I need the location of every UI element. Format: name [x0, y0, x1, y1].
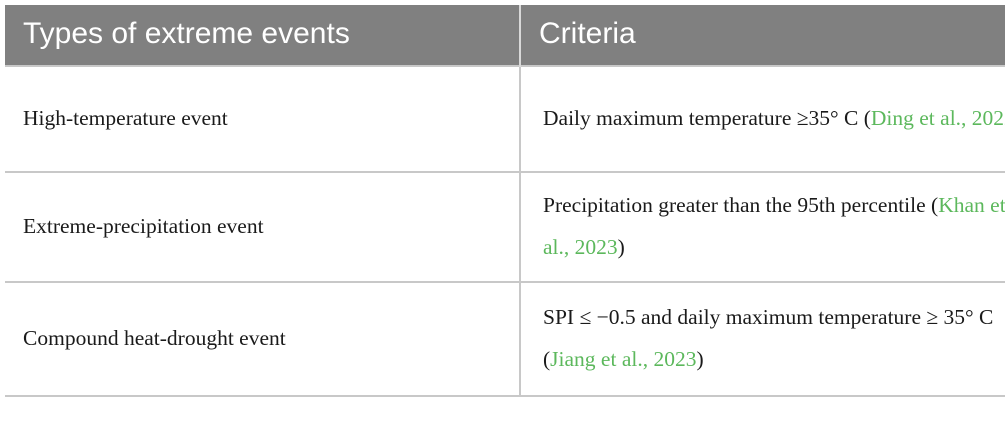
- citation-reference: Ding et al., 2022: [871, 106, 1005, 130]
- criteria-suffix: ): [618, 235, 625, 259]
- table-row: Compound heat-drought event SPI ≤ −0.5 a…: [5, 282, 1005, 396]
- extreme-events-criteria-table: Types of extreme events Criteria High-te…: [5, 5, 1005, 397]
- criteria-cell: SPI ≤ −0.5 and daily maximum temperature…: [520, 282, 1005, 396]
- criteria-text: SPI ≤ −0.5 and daily maximum temperature…: [543, 297, 1005, 381]
- criteria-text: Daily maximum temperature ≥35° C (Ding e…: [543, 98, 1005, 140]
- header-row: Types of extreme events Criteria: [5, 5, 1005, 66]
- table-row: Extreme-precipitation event Precipitatio…: [5, 172, 1005, 282]
- table-header: Types of extreme events Criteria: [5, 5, 1005, 66]
- event-type-cell: High-temperature event: [5, 66, 520, 172]
- criteria-cell: Precipitation greater than the 95th perc…: [520, 172, 1005, 282]
- header-types-of-extreme-events: Types of extreme events: [5, 5, 520, 66]
- criteria-cell: Daily maximum temperature ≥35° C (Ding e…: [520, 66, 1005, 172]
- criteria-text: Precipitation greater than the 95th perc…: [543, 185, 1005, 269]
- criteria-prefix: Daily maximum temperature ≥35° C (: [543, 106, 871, 130]
- criteria-suffix: ): [696, 347, 703, 371]
- table-body: High-temperature event Daily maximum tem…: [5, 66, 1005, 396]
- event-type-cell: Extreme-precipitation event: [5, 172, 520, 282]
- event-type-cell: Compound heat-drought event: [5, 282, 520, 396]
- criteria-prefix: Precipitation greater than the 95th perc…: [543, 193, 938, 217]
- table-row: High-temperature event Daily maximum tem…: [5, 66, 1005, 172]
- citation-reference: Jiang et al., 2023: [550, 347, 696, 371]
- criteria-table-container: Types of extreme events Criteria High-te…: [5, 5, 1000, 397]
- header-criteria: Criteria: [520, 5, 1005, 66]
